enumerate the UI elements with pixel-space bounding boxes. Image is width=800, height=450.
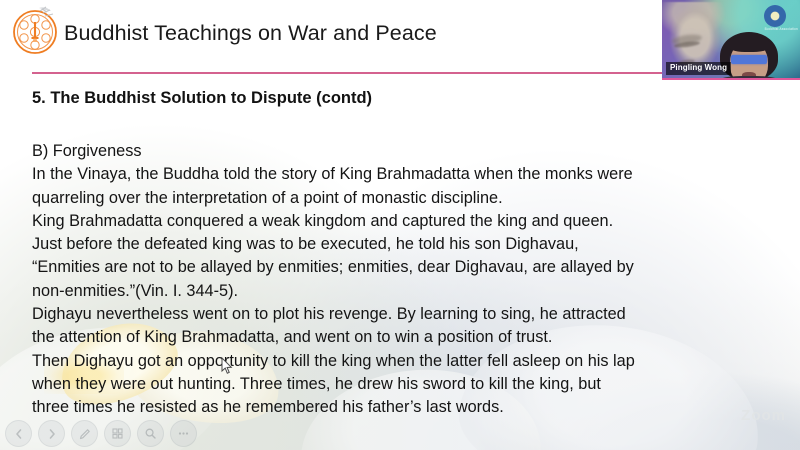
chevron-right-icon <box>46 428 58 440</box>
pen-icon <box>78 427 92 441</box>
body-line: non-enmities.”(Vin. I. 344-5). <box>32 280 792 303</box>
zoom-watermark: Zoom <box>741 407 786 424</box>
organization-seal-icon <box>764 5 786 27</box>
body-line: Then Dighayu got an opportunity to kill … <box>32 350 792 373</box>
speaker-glasses <box>731 55 767 64</box>
organization-seal-caption: Buddhist Association <box>765 27 798 31</box>
body-line: King Brahmadatta conquered a weak kingdo… <box>32 210 792 233</box>
body-line: the attention of King Brahmadatta, and w… <box>32 326 792 349</box>
body-line: Dighayu nevertheless went on to plot his… <box>32 303 792 326</box>
section-heading: 5. The Buddhist Solution to Dispute (con… <box>32 89 372 108</box>
participant-video-tile[interactable]: Buddhist Association Pingling Wong <box>662 0 800 80</box>
all-slides-button[interactable] <box>104 420 131 447</box>
chevron-left-icon <box>13 428 25 440</box>
participant-name-label: Pingling Wong <box>666 62 731 75</box>
dharma-wheel-emblem-icon <box>10 4 62 56</box>
zoom-in-button[interactable] <box>137 420 164 447</box>
presenter-toolbar[interactable] <box>5 420 197 447</box>
body-line: three times he resisted as he remembered… <box>32 396 792 419</box>
body-line: Just before the defeated king was to be … <box>32 233 792 256</box>
previous-slide-button[interactable] <box>5 420 32 447</box>
ellipsis-icon <box>177 427 190 440</box>
next-slide-button[interactable] <box>38 420 65 447</box>
grid-icon <box>111 427 124 440</box>
more-options-button[interactable] <box>170 420 197 447</box>
speaker-body <box>710 76 788 80</box>
page-title: Buddhist Teachings on War and Peace <box>64 21 437 46</box>
magnifier-icon <box>144 427 157 440</box>
body-line: quarreling over the interpretation of a … <box>32 187 792 210</box>
presentation-slide: Buddhist Teachings on War and Peace 5. T… <box>0 0 800 450</box>
body-line: “Enmities are not to be allayed by enmit… <box>32 256 792 279</box>
body-line: In the Vinaya, the Buddha told the story… <box>32 163 792 186</box>
body-line: B) Forgiveness <box>32 140 792 163</box>
body-line: when they were out hunting. Three times,… <box>32 373 792 396</box>
pen-tool-button[interactable] <box>71 420 98 447</box>
slide-body-text: B) Forgiveness In the Vinaya, the Buddha… <box>32 140 792 420</box>
speaker-fringe <box>727 36 771 52</box>
